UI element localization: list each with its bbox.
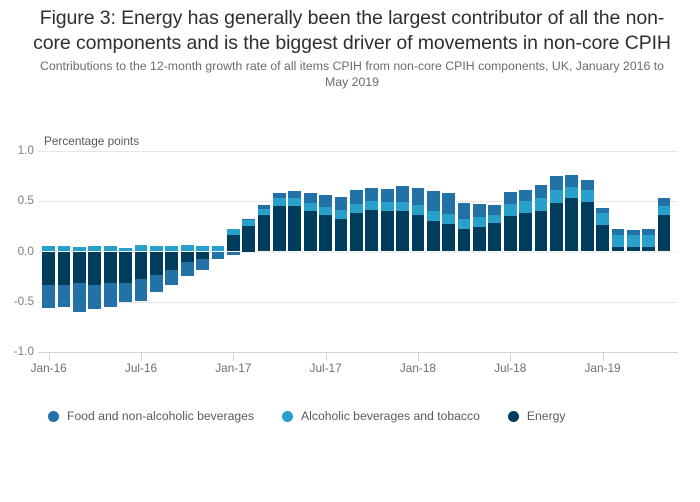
figure-title: Figure 3: Energy has generally been the …: [24, 6, 680, 56]
bar-segment: [550, 190, 563, 203]
x-axis-tick: [603, 352, 604, 361]
bar-segment: [196, 252, 209, 259]
bar-segment: [458, 203, 471, 219]
bar-segment: [381, 202, 394, 211]
y-axis-tick-label: 0.0: [0, 244, 34, 258]
bar-segment: [181, 252, 194, 262]
bar-segment: [504, 216, 517, 251]
bar-segment: [150, 275, 163, 292]
x-axis-tick-label: Jan-17: [215, 361, 251, 375]
bar-segment: [473, 217, 486, 227]
x-axis-tick-label: Jan-19: [584, 361, 620, 375]
x-axis-tick-label: Jan-18: [400, 361, 436, 375]
bar-segment: [535, 198, 548, 211]
x-axis-tick: [418, 352, 419, 361]
bar-segment: [381, 211, 394, 251]
x-axis-tick-label: Jul-16: [125, 361, 157, 375]
bar-segment: [519, 213, 532, 251]
bar-segment: [150, 252, 163, 275]
bar-segment: [319, 207, 332, 215]
bar-segment: [196, 259, 209, 270]
x-axis-tick: [233, 352, 234, 361]
bar-segment: [227, 235, 240, 251]
bar-segment: [488, 205, 501, 215]
bar-segment: [304, 211, 317, 251]
bar-segment: [642, 229, 655, 235]
legend-item[interactable]: Alcoholic beverages and tobacco: [282, 409, 480, 423]
bar-segment: [458, 219, 471, 229]
bar-segment: [273, 193, 286, 198]
legend-swatch-icon: [282, 411, 293, 422]
bar-segment: [119, 283, 132, 302]
bar-segment: [627, 230, 640, 235]
bar-segment: [119, 252, 132, 283]
bar-segment: [181, 262, 194, 276]
bar-segment: [412, 188, 425, 205]
bar-segment: [535, 211, 548, 251]
x-axis-line: [38, 352, 678, 353]
bar-segment: [488, 223, 501, 251]
bar-segment: [550, 203, 563, 251]
bar-segment: [258, 205, 271, 209]
bar-segment: [242, 220, 255, 226]
figure-subtitle: Contributions to the 12-month growth rat…: [30, 58, 674, 90]
bar-segment: [242, 219, 255, 220]
bar-segment: [335, 197, 348, 210]
bar-segment: [212, 252, 225, 259]
bar-segment: [42, 285, 55, 308]
bar-segment: [304, 203, 317, 211]
bar-segment: [73, 252, 86, 283]
bar-segment: [581, 202, 594, 251]
bar-segment: [350, 190, 363, 204]
bar-segment: [581, 180, 594, 190]
bar-segment: [335, 210, 348, 219]
bar-segment: [427, 211, 440, 221]
y-axis-tick-label: -1.0: [0, 344, 34, 358]
bar-segment: [319, 195, 332, 207]
bar-segment: [442, 214, 455, 224]
bar-segment: [88, 285, 101, 309]
bar-segment: [58, 252, 71, 285]
bar-segment: [442, 224, 455, 251]
bar-segment: [350, 204, 363, 213]
gridline: [38, 151, 678, 152]
bar-segment: [565, 187, 578, 198]
y-axis-tick-label: -0.5: [0, 294, 34, 308]
bar-segment: [165, 270, 178, 285]
chart-legend: Food and non-alcoholic beveragesAlcoholi…: [48, 405, 668, 427]
bar-segment: [165, 252, 178, 270]
bar-segment: [58, 285, 71, 307]
bar-segment: [427, 221, 440, 251]
y-axis-title: Percentage points: [44, 134, 139, 148]
bar-segment: [396, 211, 409, 251]
bar-segment: [612, 229, 625, 235]
bar-segment: [335, 219, 348, 251]
bar-segment: [596, 208, 609, 213]
bar-segment: [365, 188, 378, 201]
x-axis-tick-label: Jul-18: [494, 361, 526, 375]
bar-segment: [73, 283, 86, 312]
bar-segment: [565, 175, 578, 187]
x-axis-tick-label: Jan-16: [31, 361, 67, 375]
legend-item[interactable]: Food and non-alcoholic beverages: [48, 409, 254, 423]
legend-label: Food and non-alcoholic beverages: [67, 409, 254, 423]
legend-label: Alcoholic beverages and tobacco: [301, 409, 480, 423]
bar-segment: [642, 235, 655, 247]
bar-segment: [227, 229, 240, 235]
bar-segment: [658, 206, 671, 215]
bar-segment: [427, 191, 440, 211]
bar-segment: [350, 213, 363, 251]
bar-segment: [612, 247, 625, 251]
bar-segment: [504, 204, 517, 216]
bar-segment: [396, 202, 409, 211]
bar-segment: [258, 209, 271, 215]
bar-segment: [135, 279, 148, 301]
bar-segment: [135, 252, 148, 279]
y-axis-tick-label: 1.0: [0, 143, 34, 157]
bar-segment: [412, 205, 425, 215]
bar-segment: [658, 215, 671, 251]
bar-segment: [273, 206, 286, 251]
bar-segment: [396, 186, 409, 202]
bar-segment: [42, 252, 55, 285]
bar-segment: [581, 190, 594, 202]
bar-segment: [458, 229, 471, 251]
bar-segment: [627, 247, 640, 251]
x-axis-tick: [141, 352, 142, 361]
bar-segment: [488, 215, 501, 223]
bar-segment: [612, 235, 625, 247]
bar-segment: [642, 247, 655, 251]
bar-segment: [365, 210, 378, 251]
bar-segment: [104, 252, 117, 283]
gridline: [38, 302, 678, 303]
x-axis-tick: [49, 352, 50, 361]
bar-segment: [658, 198, 671, 206]
bar-segment: [412, 215, 425, 251]
x-axis-tick: [510, 352, 511, 361]
bar-segment: [519, 201, 532, 213]
bar-segment: [88, 252, 101, 285]
bar-segment: [550, 176, 563, 190]
plot-area: 1.00.50.0-0.5-1.0: [38, 151, 678, 352]
bar-segment: [473, 204, 486, 217]
bar-segment: [273, 198, 286, 206]
bar-segment: [473, 227, 486, 251]
bar-segment: [288, 198, 301, 206]
bar-segment: [381, 189, 394, 202]
bar-segment: [227, 252, 240, 255]
bar-segment: [596, 225, 609, 251]
bar-segment: [288, 206, 301, 251]
bar-segment: [565, 198, 578, 251]
legend-swatch-icon: [508, 411, 519, 422]
bar-segment: [596, 213, 609, 225]
bar-segment: [304, 193, 317, 203]
bar-segment: [519, 190, 532, 201]
bar-segment: [504, 192, 517, 204]
y-axis-tick-label: 0.5: [0, 193, 34, 207]
bar-segment: [242, 226, 255, 251]
x-axis-tick: [326, 352, 327, 361]
bar-segment: [365, 201, 378, 210]
bar-segment: [442, 193, 455, 214]
bar-segment: [104, 283, 117, 307]
x-axis-tick-label: Jul-17: [310, 361, 342, 375]
legend-item[interactable]: Energy: [508, 409, 566, 423]
bar-segment: [627, 235, 640, 247]
bar-segment: [258, 215, 271, 251]
bar-segment: [288, 191, 301, 198]
legend-swatch-icon: [48, 411, 59, 422]
bar-segment: [319, 215, 332, 251]
chart-figure: Figure 3: Energy has generally been the …: [0, 0, 700, 502]
bar-segment: [535, 185, 548, 198]
legend-label: Energy: [527, 409, 566, 423]
